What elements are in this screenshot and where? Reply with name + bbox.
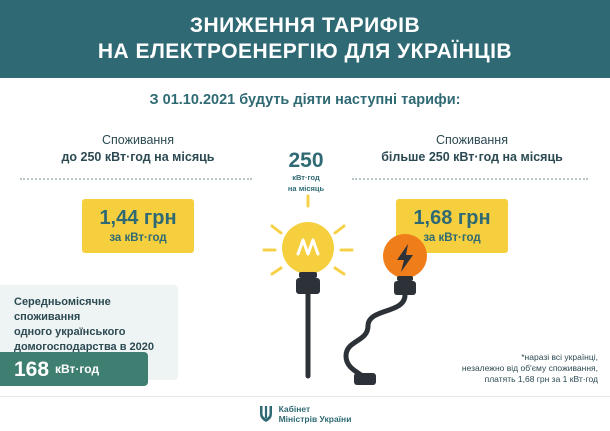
tariff-card-right: 1,68 грн за кВт·год bbox=[396, 199, 508, 253]
divider-dotted-right bbox=[352, 178, 588, 180]
bulb-neck-icon bbox=[299, 272, 317, 278]
left-heading-line1: Споживання bbox=[18, 132, 258, 149]
threshold-marker: 250 кВт·год на місяць bbox=[258, 150, 354, 193]
average-text-line1: Середньомісячне споживання bbox=[14, 295, 170, 325]
secondary-bulb-neck-icon bbox=[397, 276, 413, 281]
footer-logo-line2: Міністрів України bbox=[279, 414, 352, 424]
bulb-base-icon bbox=[296, 278, 320, 294]
tariff-right-amount: 1,68 грн bbox=[396, 207, 508, 229]
threshold-value: 250 bbox=[258, 150, 354, 172]
left-column-heading: Споживання до 250 кВт·год на місяць bbox=[18, 132, 258, 166]
average-value-badge: 168 кВт·год bbox=[0, 352, 148, 386]
footnote-text: *наразі всі українці, незалежно від об'є… bbox=[383, 352, 598, 385]
average-text-line2: одного українського bbox=[14, 325, 170, 340]
threshold-unit-line2: на місяць bbox=[258, 184, 354, 194]
filament-icon bbox=[298, 240, 318, 254]
right-heading-line2: більше 250 кВт·год на місяць bbox=[352, 149, 592, 166]
tariff-card-left: 1,44 грн за кВт·год bbox=[82, 199, 194, 253]
secondary-bulb-base-icon bbox=[394, 281, 416, 295]
footnote-line2: незалежно від об'єму споживання, bbox=[383, 363, 598, 374]
plug-icon bbox=[354, 373, 376, 385]
header-banner: ЗНИЖЕННЯ ТАРИФІВ НА ЕЛЕКТРОЕНЕРГІЮ ДЛЯ У… bbox=[0, 0, 610, 78]
trident-emblem-icon bbox=[259, 405, 273, 423]
right-column-heading: Споживання більше 250 кВт·год на місяць bbox=[352, 132, 592, 166]
divider-dotted-left bbox=[20, 178, 252, 180]
tariff-right-unit: за кВт·год bbox=[396, 231, 508, 245]
average-value-unit: кВт·год bbox=[55, 362, 99, 376]
footer-logo-line1: Кабінет bbox=[279, 404, 352, 414]
left-heading-line2: до 250 кВт·год на місяць bbox=[18, 149, 258, 166]
footnote-line1: *наразі всі українці, bbox=[383, 352, 598, 363]
right-heading-line1: Споживання bbox=[352, 132, 592, 149]
average-value: 168 bbox=[14, 359, 49, 380]
tariff-left-amount: 1,44 грн bbox=[82, 207, 194, 229]
header-title-line1: ЗНИЖЕННЯ ТАРИФІВ bbox=[190, 13, 420, 39]
footer-bar: Кабінет Міністрів України bbox=[0, 396, 610, 431]
main-bulb-glass-icon bbox=[282, 222, 334, 274]
threshold-unit-line1: кВт·год bbox=[258, 173, 354, 183]
glow-rays-icon bbox=[264, 196, 352, 274]
infographic-page: ЗНИЖЕННЯ ТАРИФІВ НА ЕЛЕКТРОЕНЕРГІЮ ДЛЯ У… bbox=[0, 0, 610, 431]
header-title-line2: НА ЕЛЕКТРОЕНЕРГІЮ ДЛЯ УКРАЇНЦІВ bbox=[98, 39, 512, 65]
tariff-left-unit: за кВт·год bbox=[82, 231, 194, 245]
footer-logo-text: Кабінет Міністрів України bbox=[279, 404, 352, 424]
footnote-line3: платять 1,68 грн за 1 кВт·год bbox=[383, 374, 598, 385]
subtitle-text: З 01.10.2021 будуть діяти наступні тариф… bbox=[0, 92, 610, 108]
